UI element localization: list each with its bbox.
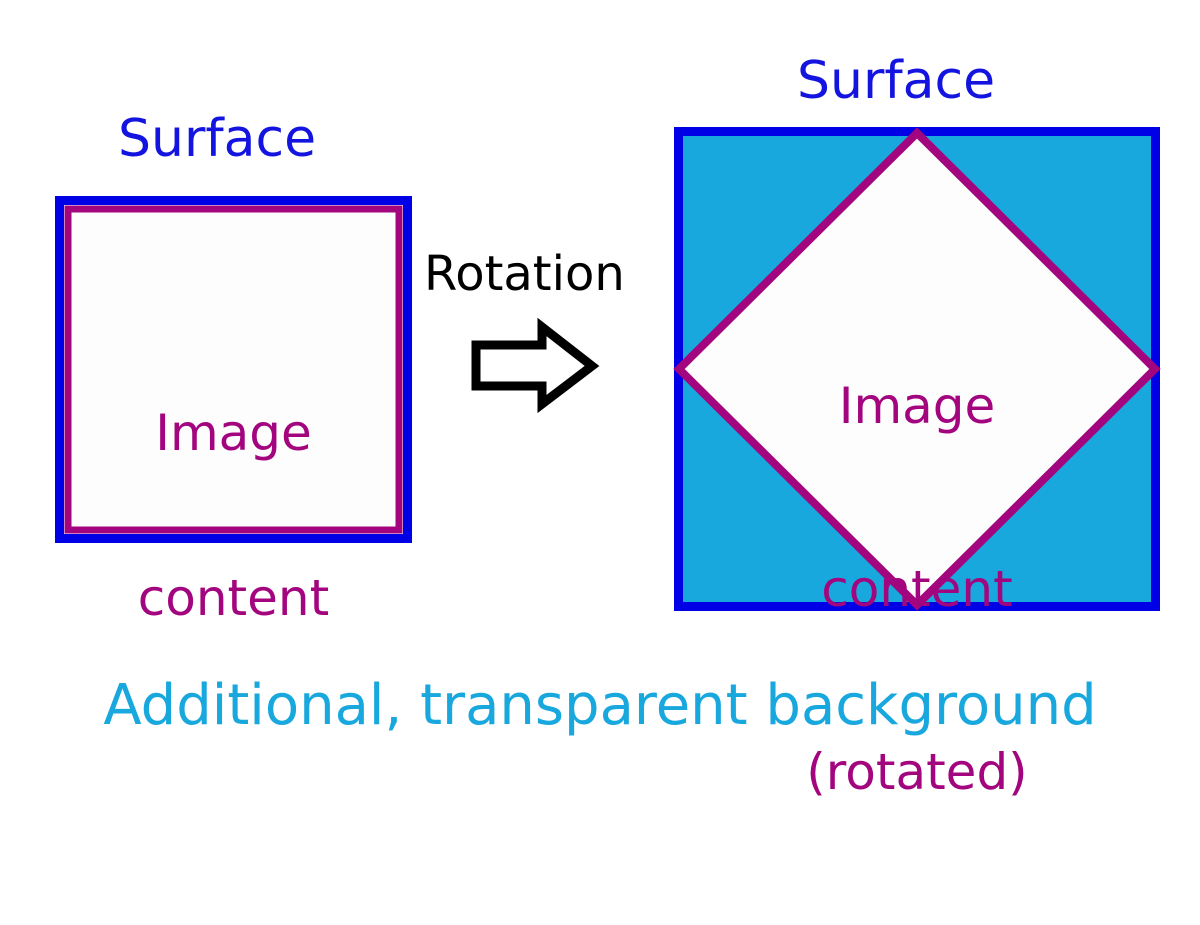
right-surface-label: Surface: [797, 55, 995, 107]
diagram-canvas: Surface Image content Rotation Surface I…: [0, 0, 1200, 776]
right-image-content-line-1: Image: [727, 376, 1107, 437]
left-surface-label: Surface: [118, 113, 316, 165]
right-image-content-text: Image content (rotated): [727, 254, 1107, 925]
left-image-content-line-1: Image: [65, 406, 402, 461]
block-arrow-right-icon: [476, 327, 592, 404]
right-image-content-line-3: (rotated): [727, 742, 1107, 803]
rotation-arrow-group: [476, 327, 592, 404]
rotation-label: Rotation: [424, 250, 625, 298]
transparent-background-caption: Additional, transparent background: [0, 678, 1200, 734]
left-image-content-text: Image content: [65, 296, 402, 736]
right-image-content-line-2: content: [727, 559, 1107, 620]
left-image-content-line-2: content: [65, 571, 402, 626]
